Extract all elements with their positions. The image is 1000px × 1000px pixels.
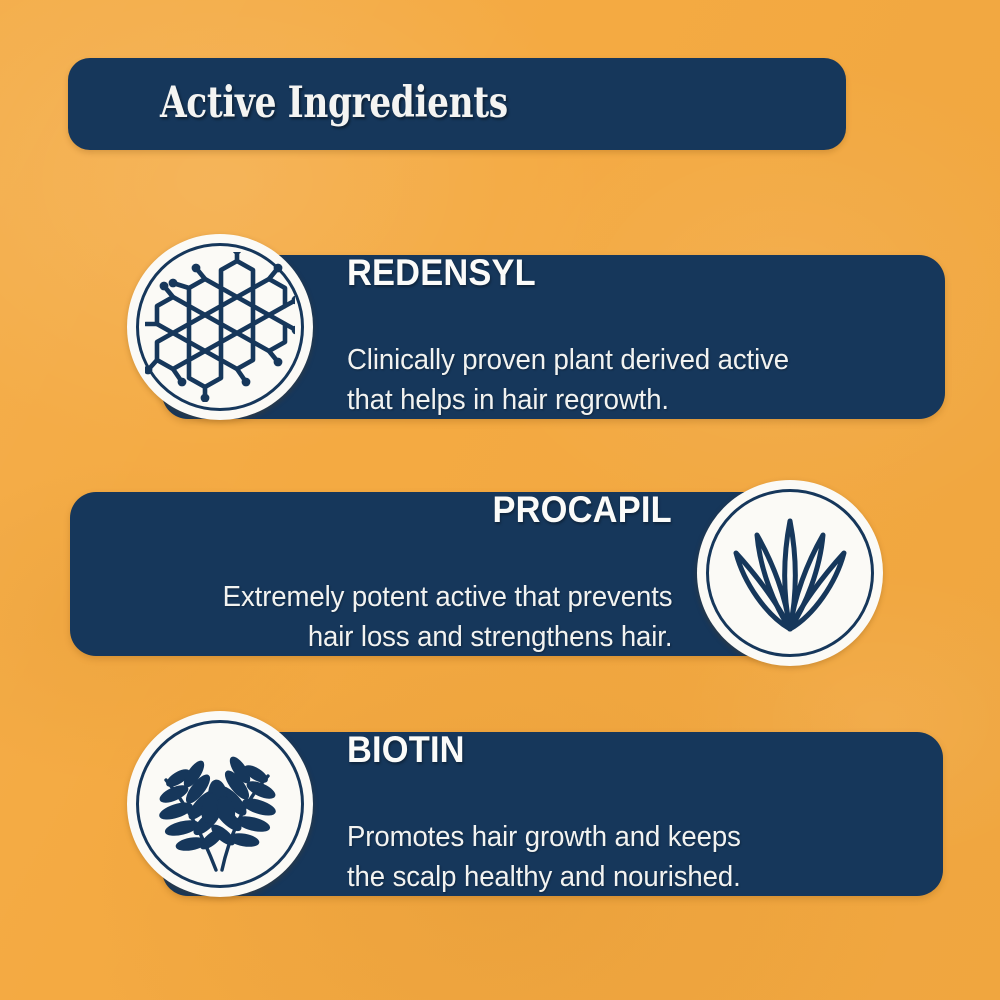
ingredient-text-block: BIOTIN Promotes hair growth and keeps th… [347,732,913,896]
page-title-text: Active Ingredients [160,78,508,128]
ingredient-icon-medallion-biotin [127,711,313,897]
ingredient-description-biotin: Promotes hair growth and keeps the scalp… [347,777,762,897]
ingredient-name-redensyl: REDENSYL [347,254,550,293]
ingredient-name-biotin: BIOTIN [347,731,474,770]
ingredient-description-redensyl: Clinically proven plant derived active t… [347,300,812,420]
hexagon-lattice-icon [145,252,295,402]
header-banner: Active Ingredients [68,58,846,150]
ingredient-description-procapil: Extremely potent active that prevents ha… [199,537,672,657]
fern-leaf-icon [150,734,290,874]
ingredient-text-block: REDENSYL Clinically proven plant derived… [347,255,915,419]
ingredient-name-procapil: PROCAPIL [479,491,672,530]
ingredient-text-block: PROCAPIL Extremely potent active that pr… [104,492,672,656]
ingredient-icon-medallion-redensyl [127,234,313,420]
page-title: Active Ingredients [160,78,595,128]
ingredient-card-procapil: PROCAPIL Extremely potent active that pr… [70,492,792,656]
aloe-vera-icon [724,507,856,639]
ingredient-icon-medallion-procapil [697,480,883,666]
active-ingredients-poster: Active Ingredients REDENSYL Clinically p… [0,0,1000,1000]
